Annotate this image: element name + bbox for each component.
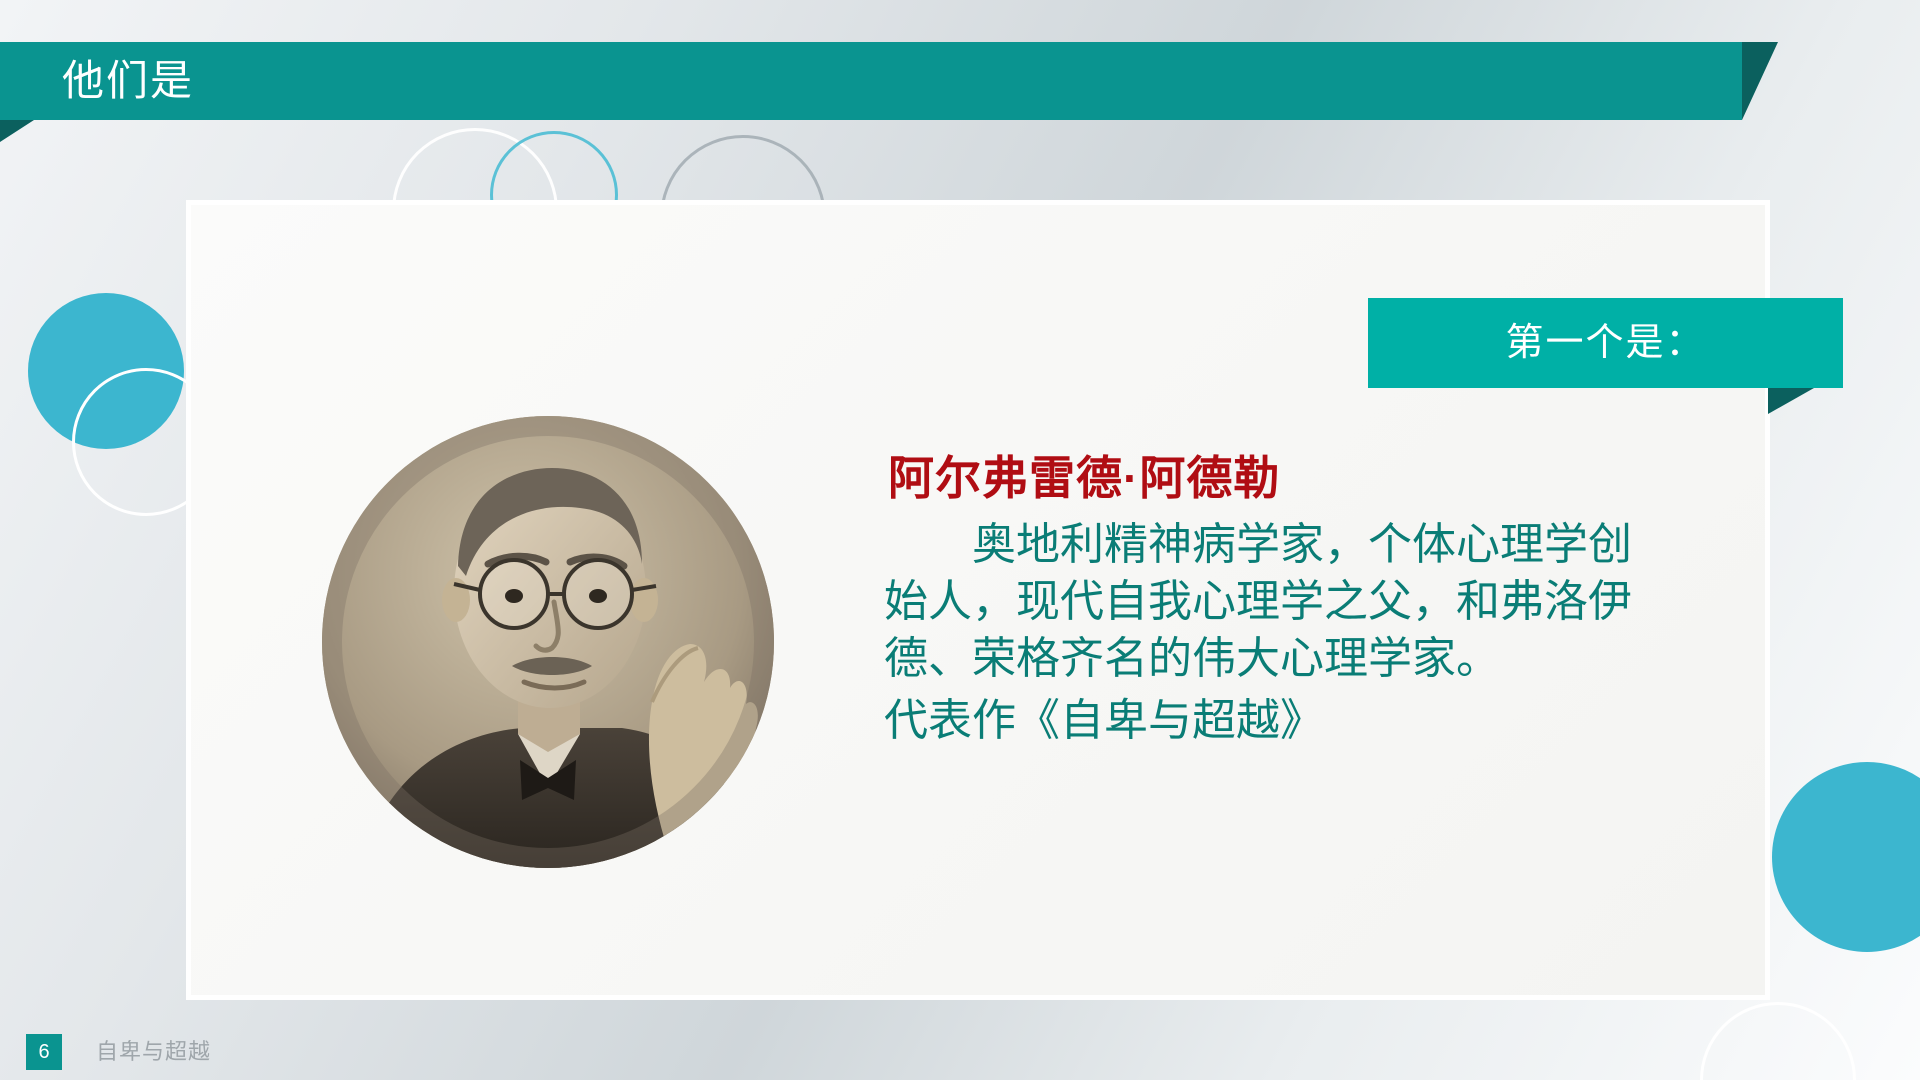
person-bio-paragraph: 奥地利精神病学家，个体心理学创始人，现代自我心理学之父，和弗洛伊德、荣格齐名的伟…	[884, 516, 1644, 688]
chip-corner-icon	[1768, 388, 1814, 414]
header-band	[0, 42, 1742, 120]
decorative-circle-icon	[1700, 1002, 1856, 1080]
person-name: 阿尔弗雷德·阿德勒	[888, 442, 1280, 508]
person-bio-work: 代表作《自卑与超越》	[884, 692, 1644, 749]
slide-canvas: 他们是 第一个是：	[0, 0, 1920, 1080]
footer-title: 自卑与超越	[96, 1034, 211, 1070]
header-notch-icon	[0, 120, 34, 142]
page-number-badge: 6	[26, 1034, 62, 1070]
person-bio: 奥地利精神病学家，个体心理学创始人，现代自我心理学之父，和弗洛伊德、荣格齐名的伟…	[884, 516, 1644, 749]
decorative-circle-icon	[1772, 762, 1920, 952]
portrait-image	[322, 416, 774, 868]
header-notch-right-icon	[1742, 42, 1778, 120]
page-title: 他们是	[62, 42, 194, 120]
avatar	[322, 416, 774, 868]
section-label-text: 第一个是：	[1368, 298, 1843, 388]
decorative-circle-icon	[28, 293, 184, 449]
